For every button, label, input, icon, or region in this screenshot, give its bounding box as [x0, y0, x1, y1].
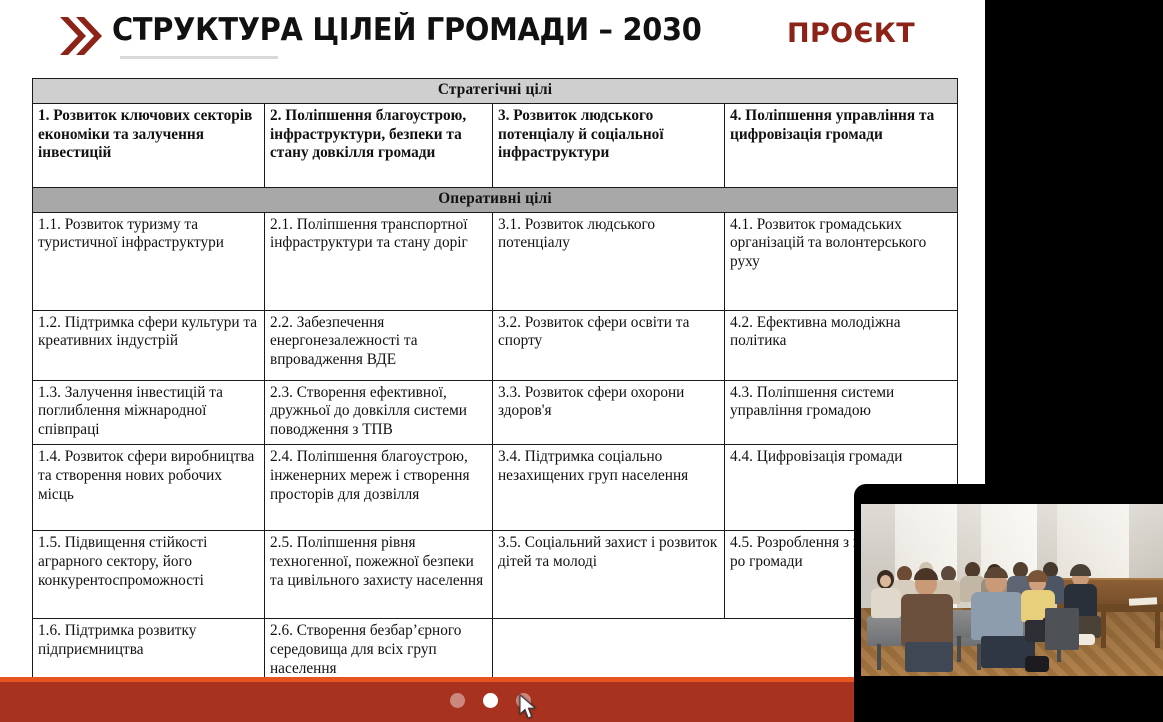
- operational-goals-band: Оперативні цілі: [33, 187, 958, 212]
- slide-header: СТРУКТУРА ЦІЛЕЙ ГРОМАДИ – 2030 ПРОЄКТ: [0, 0, 985, 72]
- video-desk-leg: [1155, 612, 1160, 648]
- video-bezel-strip: [854, 689, 1163, 722]
- video-bench-leg: [957, 636, 961, 662]
- operational-goal-3-5: 3.5. Соціальний захист і розвиток дітей …: [493, 531, 725, 619]
- video-torso: [871, 588, 901, 618]
- operational-goal-4-3: 4.3. Поліпшення системи управління грома…: [725, 380, 958, 444]
- video-chair: [1045, 608, 1079, 650]
- video-bezel-bottom: [854, 676, 1163, 689]
- screen: СТРУКТУРА ЦІЛЕЙ ГРОМАДИ – 2030 ПРОЄКТ Ст…: [0, 0, 1163, 722]
- operational-goal-3-4: 3.4. Підтримка соціально незахищених гру…: [493, 445, 725, 531]
- operational-goal-2-5: 2.5. Поліпшення рівня техногенної, пожеж…: [265, 531, 493, 619]
- table-row: 1.5. Підвищення стійкості аграрного сект…: [33, 531, 958, 619]
- operational-goal-3-2: 3.2. Розвиток сфери освіти та спорту: [493, 310, 725, 380]
- table-band-row: Стратегічні цілі: [33, 79, 958, 104]
- operational-goal-1-2: 1.2. Підтримка сфери культури та креатив…: [33, 310, 265, 380]
- table-row: 1.3. Залучення інвестицій та поглиблення…: [33, 380, 958, 444]
- operational-goal-2-3: 2.3. Створення ефективної, дружньої до д…: [265, 380, 493, 444]
- goals-structure-table: Стратегічні цілі 1. Розвиток ключових се…: [32, 78, 958, 689]
- participant-video-thumbnail[interactable]: [861, 504, 1163, 676]
- operational-goal-2-2: 2.2. Забезпечення енергонезалежності та …: [265, 310, 493, 380]
- video-face: [880, 575, 891, 587]
- slide-dot-2[interactable]: [483, 693, 498, 708]
- video-desk-leg: [1101, 612, 1106, 648]
- table-row: 1. Розвиток ключових секторів економіки …: [33, 103, 958, 187]
- operational-goal-1-3: 1.3. Залучення інвестицій та поглиблення…: [33, 380, 265, 444]
- operational-goal-3-1: 3.1. Розвиток людського потенціалу: [493, 212, 725, 310]
- operational-goal-2-4: 2.4. Поліпшення благоустрою, інженерних …: [265, 445, 493, 531]
- slide-dot-1[interactable]: [450, 693, 465, 708]
- video-legs: [905, 642, 953, 672]
- strategic-goal-2: 2. Поліпшення благоустрою, інфраструктур…: [265, 103, 493, 187]
- video-torso: [971, 592, 1023, 640]
- operational-goal-3-3: 3.3. Розвиток сфери охорони здоров'я: [493, 380, 725, 444]
- footer-accent-stripe: [0, 677, 985, 682]
- strategic-goal-4: 4. Поліпшення управління та цифровізація…: [725, 103, 958, 187]
- presentation-slide: СТРУКТУРА ЦІЛЕЙ ГРОМАДИ – 2030 ПРОЄКТ Ст…: [0, 0, 985, 722]
- strategic-goals-band: Стратегічні цілі: [33, 79, 958, 104]
- mouse-pointer-icon: [519, 694, 537, 720]
- table-row: 1.1. Розвиток туризму та туристичної інф…: [33, 212, 958, 310]
- title-underline: [120, 56, 278, 59]
- operational-goal-2-1: 2.1. Поліпшення транспортної інфраструкт…: [265, 212, 493, 310]
- page-title-wrap: СТРУКТУРА ЦІЛЕЙ ГРОМАДИ – 2030: [112, 12, 746, 48]
- table-row: 1.2. Підтримка сфери культури та креатив…: [33, 310, 958, 380]
- page-title: СТРУКТУРА ЦІЛЕЙ ГРОМАДИ – 2030: [112, 12, 702, 48]
- operational-goal-1-4: 1.4. Розвиток сфери виробництва та створ…: [33, 445, 265, 531]
- operational-goal-1-5: 1.5. Підвищення стійкості аграрного сект…: [33, 531, 265, 619]
- operational-goal-4-1: 4.1. Розвиток громадських організацій та…: [725, 212, 958, 310]
- strategic-goal-3: 3. Розвиток людського потенціалу й соціа…: [493, 103, 725, 187]
- operational-goal-1-1: 1.1. Розвиток туризму та туристичної інф…: [33, 212, 265, 310]
- table-row: 1.4. Розвиток сфери виробництва та створ…: [33, 445, 958, 531]
- video-torso: [901, 594, 953, 646]
- video-papers: [1129, 597, 1157, 605]
- video-shoe: [1025, 656, 1049, 672]
- table-band-row: Оперативні цілі: [33, 187, 958, 212]
- strategic-goal-1: 1. Розвиток ключових секторів економіки …: [33, 103, 265, 187]
- double-chevron-icon: [58, 14, 104, 58]
- operational-goal-4-2: 4.2. Ефективна молодіжна політика: [725, 310, 958, 380]
- video-bench-leg: [877, 644, 881, 670]
- status-badge: ПРОЄКТ: [787, 18, 915, 49]
